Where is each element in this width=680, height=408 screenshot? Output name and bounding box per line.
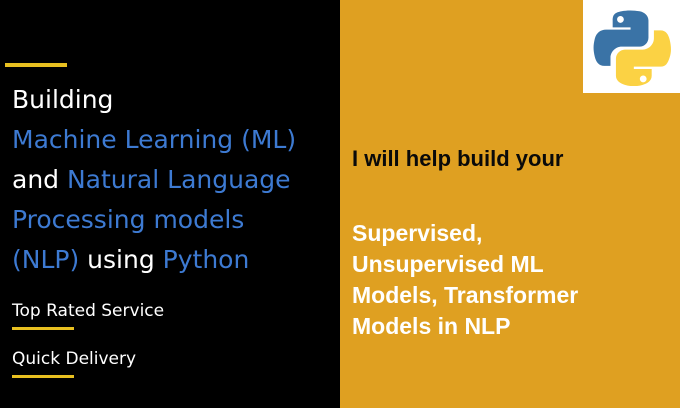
badge-top-rated-service: Top Rated Service <box>12 300 164 330</box>
offer-body-line-4: Models in NLP <box>352 311 678 342</box>
offer-body: Supervised, Unsupervised ML Models, Tran… <box>352 218 678 342</box>
right-panel: I will help build your Supervised, Unsup… <box>340 0 680 408</box>
headline-line-2: Machine Learning (ML) <box>12 125 296 154</box>
headline-line-5-python: Python <box>163 245 250 274</box>
badge-top-rated-service-rule <box>12 327 74 330</box>
offer-body-line-2: Unsupervised ML <box>352 249 678 280</box>
headline: Building Machine Learning (ML) and Natur… <box>12 80 332 280</box>
badge-quick-delivery: Quick Delivery <box>12 348 136 378</box>
left-panel: Building Machine Learning (ML) and Natur… <box>0 0 340 408</box>
headline-line-4: Processing models <box>12 205 244 234</box>
python-logo-icon <box>591 6 671 86</box>
headline-line-5-nlp: (NLP) <box>12 245 79 274</box>
offer-body-line-1: Supervised, <box>352 218 678 249</box>
offer-body-line-3: Models, Transformer <box>352 280 678 311</box>
headline-line-3-blue: Natural Language <box>67 165 291 194</box>
badge-quick-delivery-rule <box>12 375 74 378</box>
python-logo-plate <box>583 0 680 93</box>
offer-kicker: I will help build your <box>352 145 672 173</box>
headline-line-3-and: and <box>12 165 67 194</box>
badge-quick-delivery-label: Quick Delivery <box>12 348 136 370</box>
top-accent-rule <box>5 63 67 67</box>
promo-banner: Building Machine Learning (ML) and Natur… <box>0 0 680 408</box>
badge-top-rated-service-label: Top Rated Service <box>12 300 164 322</box>
headline-line-1: Building <box>12 85 113 114</box>
headline-line-5-using: using <box>79 245 162 274</box>
